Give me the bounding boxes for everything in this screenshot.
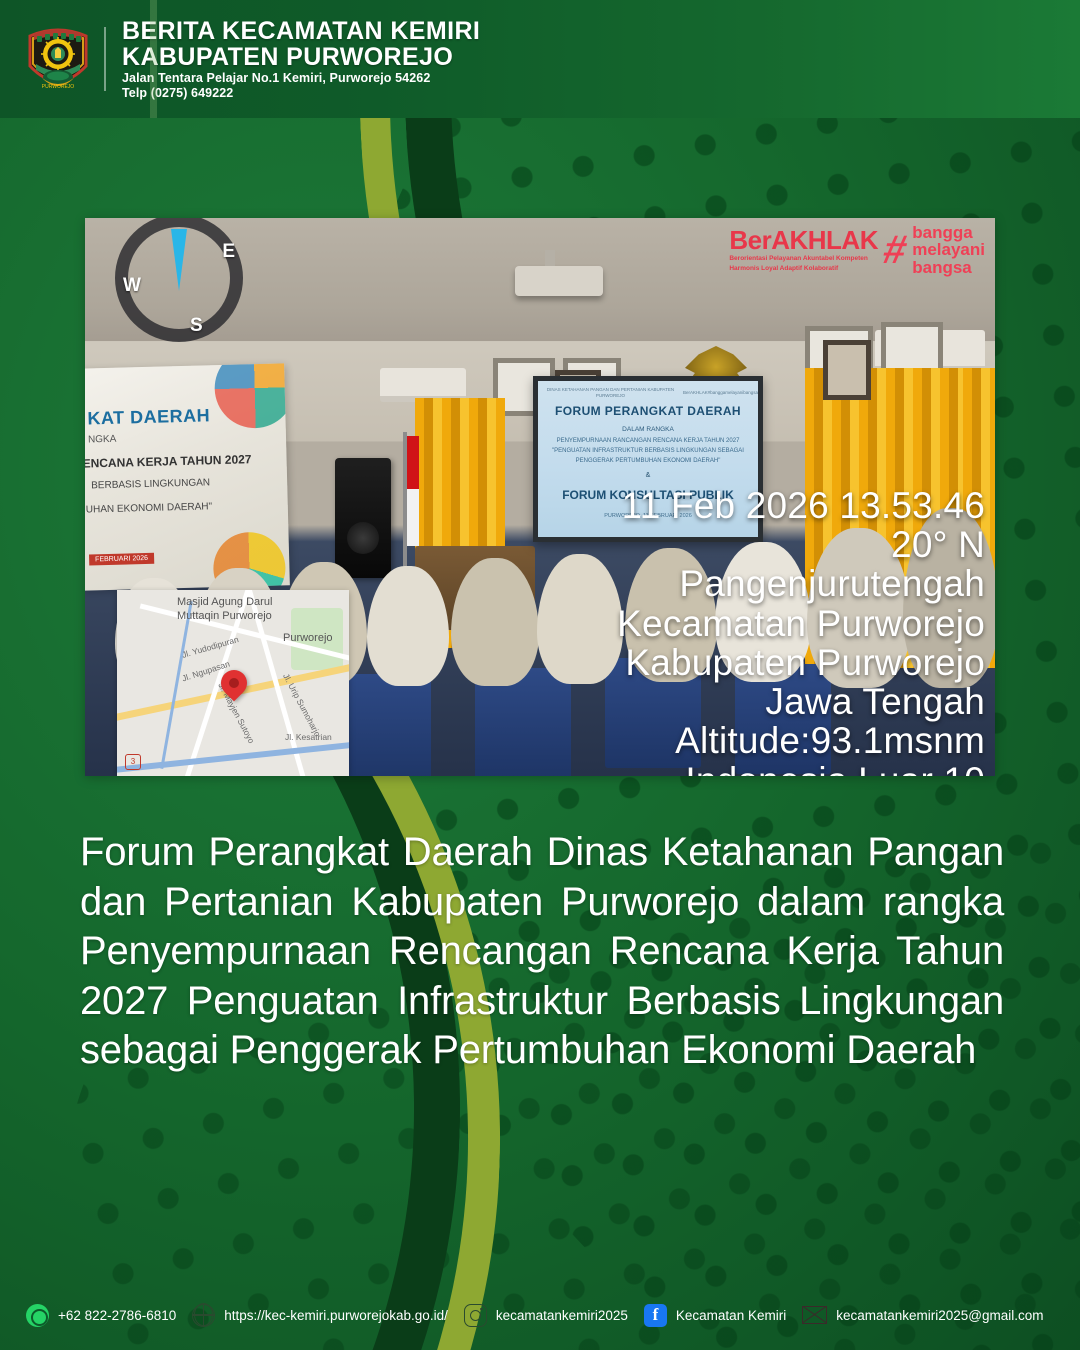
header-text-block: BERITA KECAMATAN KEMIRI KABUPATEN PURWOR… [122, 18, 480, 100]
map-mosque-label-1: Masjid Agung Darul [177, 596, 272, 608]
map-route-shield: 3 [125, 754, 141, 770]
svg-text:PURWOREJO: PURWOREJO [42, 84, 75, 90]
slide-conjunction: & [538, 471, 758, 480]
air-conditioner-left [380, 368, 466, 402]
bangga-melayani-bangsa-tag: bangga melayani bangsa [912, 224, 985, 276]
contact-footer: +62 822-2786-6810 https://kec-kemiri.pur… [0, 1280, 1080, 1350]
contact-instagram[interactable]: kecamatankemiri2025 [464, 1304, 628, 1327]
org-name-line2: KABUPATEN PURWOREJO [122, 44, 480, 70]
berakhlak-values-2: Harmonis Loyal Adaptif Kolaboratif [729, 265, 878, 273]
berakhlak-logo: BerAKHLAK Berorientasi Pelayanan Akuntab… [723, 220, 991, 280]
gps-datetime: 11 Feb 2026 13.53.46 [85, 486, 985, 525]
contact-website[interactable]: https://kec-kemiri.purworejokab.go.id/ [192, 1304, 448, 1327]
map-road-label: Jl. Kesatrian [285, 732, 332, 742]
header-divider [104, 27, 106, 91]
email-icon [802, 1306, 827, 1324]
org-address: Jalan Tentara Pelajar No.1 Kemiri, Purwo… [122, 72, 480, 85]
header-accent-stripe [150, 0, 157, 118]
slide-line2: PENYEMPURNAAN RANCANGAN RENCANA KERJA TA… [538, 437, 758, 445]
banner-decor-circle [214, 363, 290, 429]
banner-line2: NGKA [88, 434, 117, 446]
banner-line3: ENCANA KERJA TAHUN 2027 [85, 452, 252, 470]
page-header: PURWOREJO BERITA KECAMATAN KEMIRI KABUPA… [0, 0, 1080, 118]
email-address: kecamatankemiri2025@gmail.com [836, 1308, 1043, 1323]
contact-email[interactable]: kecamatankemiri2025@gmail.com [802, 1306, 1043, 1324]
purworejo-regency-emblem: PURWOREJO [24, 20, 92, 98]
website-url: https://kec-kemiri.purworejokab.go.id/ [224, 1308, 448, 1323]
berakhlak-wordmark: BerAKHLAK Berorientasi Pelayanan Akuntab… [729, 227, 878, 273]
compass-overlay: W E S [115, 218, 243, 342]
compass-needle-icon [171, 229, 187, 291]
whatsapp-number: +62 822-2786-6810 [58, 1308, 176, 1323]
poster-canvas: PURWOREJO BERITA KECAMATAN KEMIRI KABUPA… [0, 0, 1080, 1350]
map-inset: Masjid Agung Darul Muttaqin Purworejo Pu… [117, 590, 349, 776]
globe-icon [192, 1304, 215, 1327]
slide-line3: "PENGUATAN INFRASTRUKTUR BERBASIS LINGKU… [538, 447, 758, 455]
tagline-line1: bangga [912, 224, 985, 241]
hashtag-icon: # [880, 232, 910, 268]
slide-logo-left: DINAS KETAHANAN PANGAN DAN PERTANIAN KAB… [538, 387, 683, 399]
tagline-line3: bangsa [912, 259, 985, 276]
contact-whatsapp[interactable]: +62 822-2786-6810 [26, 1304, 176, 1327]
compass-east-label: E [222, 241, 235, 263]
tagline-line2: melayani [912, 241, 985, 258]
slide-title: FORUM PERANGKAT DAERAH [538, 403, 758, 419]
map-waterway [117, 740, 349, 773]
instagram-icon [464, 1304, 487, 1327]
ceiling-projector [515, 266, 603, 296]
map-waterway [160, 601, 192, 769]
map-city-label: Purworejo [283, 632, 333, 644]
slide-logo-mid: BerAKHLAK [683, 390, 708, 396]
emblem-icon: PURWOREJO [24, 20, 92, 98]
gps-coordinate: 20° N [85, 525, 985, 564]
slide-line4: PENGGERAK PERTUMBUHAN EKONOMI DAERAH" [538, 457, 758, 465]
post-caption: Forum Perangkat Daerah Dinas Ketahanan P… [80, 828, 1004, 1076]
contact-facebook[interactable]: f Kecamatan Kemiri [644, 1304, 786, 1327]
slide-logo-right: #banggamelayanibangsa [708, 390, 758, 396]
compass-south-label: S [190, 315, 203, 337]
slide-logo-row: DINAS KETAHANAN PANGAN DAN PERTANIAN KAB… [538, 387, 758, 399]
org-phone: Telp (0275) 649222 [122, 87, 480, 100]
org-name-line1: BERITA KECAMATAN KEMIRI [122, 18, 480, 44]
slide-subtitle: DALAM RANGKA [538, 426, 758, 435]
event-photo: KAT DAERAH NGKA ENCANA KERJA TAHUN 2027 … [85, 218, 995, 776]
berakhlak-values-1: Berorientasi Pelayanan Akuntabel Kompete… [729, 255, 878, 263]
whatsapp-icon [26, 1304, 49, 1327]
instagram-handle: kecamatankemiri2025 [496, 1308, 628, 1323]
map-mosque-label-2: Muttaqin Purworejo [177, 610, 272, 622]
compass-west-label: W [123, 275, 141, 297]
wall-portrait [823, 340, 871, 400]
facebook-icon: f [644, 1304, 667, 1327]
banner-line1: KAT DAERAH [87, 405, 210, 429]
facebook-page: Kecamatan Kemiri [676, 1308, 786, 1323]
berakhlak-title: BerAKHLAK [729, 227, 878, 253]
